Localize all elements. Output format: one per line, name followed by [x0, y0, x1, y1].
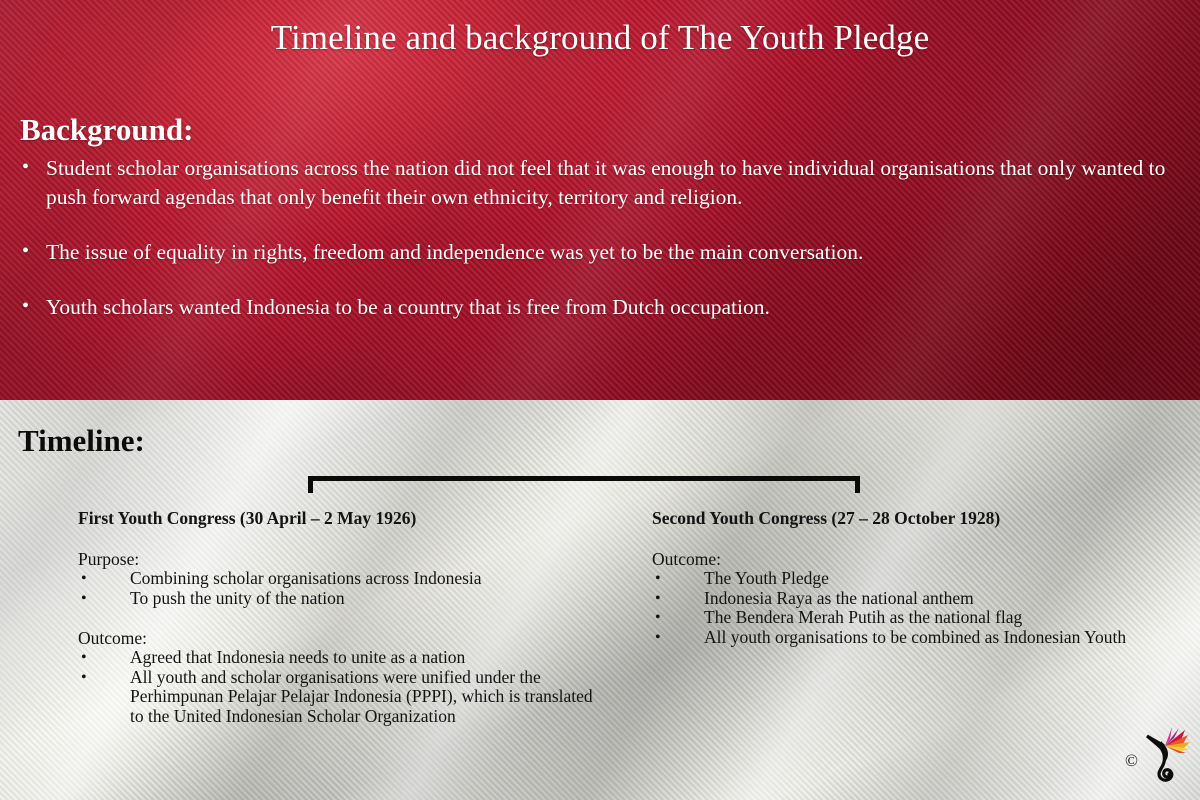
background-heading: Background: — [20, 112, 193, 148]
congress-group-label: Outcome: — [652, 549, 1152, 569]
timeline-bracket-right-tick — [855, 476, 860, 493]
congress-group-label: Purpose: — [78, 549, 598, 569]
timeline-bracket-connector — [308, 476, 860, 493]
congress-group-list: Agreed that Indonesia needs to unite as … — [78, 648, 598, 726]
timeline-bracket-left-tick — [308, 476, 313, 493]
list-item: All youth organisations to be combined a… — [652, 628, 1152, 648]
timeline-bracket-bar — [308, 476, 860, 481]
background-bullet-item: Student scholar organisations across the… — [16, 154, 1184, 212]
congress-column-first: First Youth Congress (30 April – 2 May 1… — [78, 508, 598, 726]
background-bullet-item: Youth scholars wanted Indonesia to be a … — [16, 293, 1184, 322]
list-item: Indonesia Raya as the national anthem — [652, 589, 1152, 609]
timeline-heading: Timeline: — [18, 423, 145, 459]
congress-title: Second Youth Congress (27 – 28 October 1… — [652, 508, 1152, 529]
slide-content: Timeline and background of The Youth Ple… — [0, 0, 1200, 800]
footer-logo-group: © — [1125, 726, 1195, 790]
hummingbird-logo — [1141, 726, 1193, 791]
background-bullet-list: Student scholar organisations across the… — [16, 154, 1184, 348]
congress-group-list: The Youth Pledge Indonesia Raya as the n… — [652, 569, 1152, 647]
congress-group-label: Outcome: — [78, 628, 598, 648]
list-item: The Youth Pledge — [652, 569, 1152, 589]
list-item: All youth and scholar organisations were… — [78, 668, 598, 727]
list-item: To push the unity of the nation — [78, 589, 598, 609]
congress-title: First Youth Congress (30 April – 2 May 1… — [78, 508, 598, 529]
list-item: Agreed that Indonesia needs to unite as … — [78, 648, 598, 668]
background-bullet-item: The issue of equality in rights, freedom… — [16, 238, 1184, 267]
page-title: Timeline and background of The Youth Ple… — [0, 18, 1200, 58]
list-item: Combining scholar organisations across I… — [78, 569, 598, 589]
slide: Timeline and background of The Youth Ple… — [0, 0, 1200, 800]
list-item: The Bendera Merah Putih as the national … — [652, 608, 1152, 628]
copyright-icon: © — [1125, 752, 1138, 769]
congress-column-second: Second Youth Congress (27 – 28 October 1… — [652, 508, 1152, 647]
congress-group-list: Combining scholar organisations across I… — [78, 569, 598, 608]
